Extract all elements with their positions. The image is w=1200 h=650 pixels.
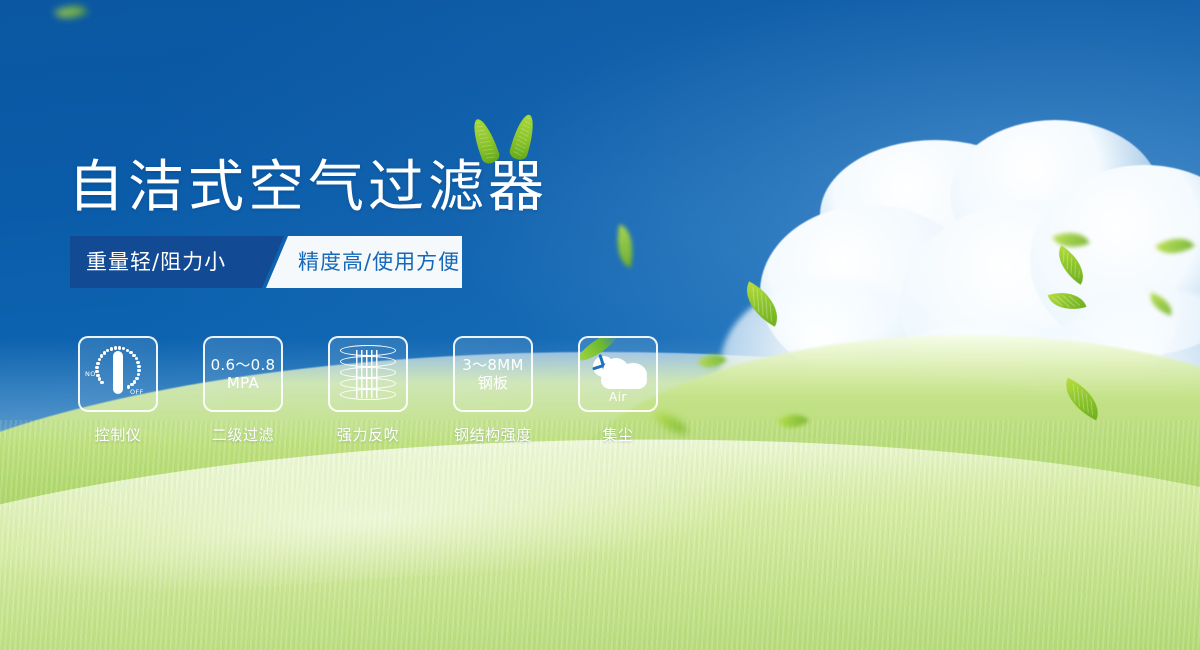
dial-tick-dot	[135, 357, 138, 360]
page-title: 自洁式空气过滤器	[68, 142, 548, 223]
dial-no-label: NO	[85, 370, 96, 378]
control-dial-icon: NO OFF	[85, 343, 151, 405]
feature-icon-box: Air	[578, 336, 658, 412]
dial-tick-dot	[122, 347, 125, 350]
feature-item-backblow[interactable]: 强力反吹	[320, 336, 416, 445]
feature-label: 二级过滤	[212, 424, 274, 445]
subtitle-bar: 重量轻/阻力小 精度高/使用方便	[70, 236, 462, 288]
dial-tick-dot	[114, 346, 117, 349]
dial-tick-dot	[130, 383, 133, 386]
air-cloud-icon: Air	[587, 346, 649, 402]
dial-tick-dot	[110, 347, 113, 350]
feature-item-secondary-filter[interactable]: 0.6～0.8 MPA 二级过滤	[195, 336, 291, 445]
feature-label: 控制仪	[95, 424, 142, 445]
dial-needle	[113, 351, 123, 394]
product-banner: 自洁式空气过滤器 重量轻/阻力小 精度高/使用方便 NO OFF 控制仪	[0, 0, 1200, 650]
feature-item-control-dial[interactable]: NO OFF 控制仪	[70, 336, 166, 445]
pressure-value: 0.6～0.8	[211, 356, 276, 374]
filter-coil-icon	[340, 345, 396, 403]
feature-item-dust-collection[interactable]: Air 集尘	[570, 336, 666, 445]
feature-icon-box: 3～8MM 钢板	[453, 336, 533, 412]
dial-tick-dot	[103, 351, 106, 354]
feature-icon-box: 0.6～0.8 MPA	[203, 336, 283, 412]
dial-tick-dot	[95, 366, 98, 369]
dial-tick-dot	[96, 362, 99, 365]
feature-item-steel-strength[interactable]: 3～8MM 钢板 钢结构强度	[445, 336, 541, 445]
dial-tick-dot	[100, 381, 103, 384]
dial-tick-dot	[118, 346, 121, 349]
dial-off-label: OFF	[130, 388, 144, 396]
dial-tick-dot	[100, 354, 103, 357]
steel-material: 钢板	[462, 374, 523, 392]
dial-tick-dot	[137, 373, 140, 376]
feature-label: 钢结构强度	[454, 424, 532, 445]
dial-tick-dot	[136, 361, 139, 364]
dial-tick-dot	[137, 369, 140, 372]
feature-list: NO OFF 控制仪 0.6～0.8 MPA 二级过滤	[70, 336, 666, 445]
feature-icon-box	[328, 336, 408, 412]
feature-label: 强力反吹	[337, 424, 399, 445]
dial-tick-dot	[106, 349, 109, 352]
pressure-text-icon: 0.6～0.8 MPA	[211, 356, 276, 392]
subtitle-right-text: 精度高/使用方便	[298, 236, 460, 288]
subtitle-left-text: 重量轻/阻力小	[86, 236, 226, 288]
dial-tick-dot	[96, 374, 99, 377]
pressure-unit: MPA	[211, 374, 276, 392]
dial-tick-dot	[95, 370, 98, 373]
air-label: Air	[587, 390, 649, 404]
feature-label: 集尘	[602, 424, 633, 445]
dial-tick-dot	[98, 377, 101, 380]
steel-plate-text-icon: 3～8MM 钢板	[462, 356, 523, 392]
dial-tick-dot	[98, 358, 101, 361]
dial-tick-dot	[137, 365, 140, 368]
steel-thickness: 3～8MM	[462, 356, 523, 374]
feature-icon-box: NO OFF	[78, 336, 158, 412]
